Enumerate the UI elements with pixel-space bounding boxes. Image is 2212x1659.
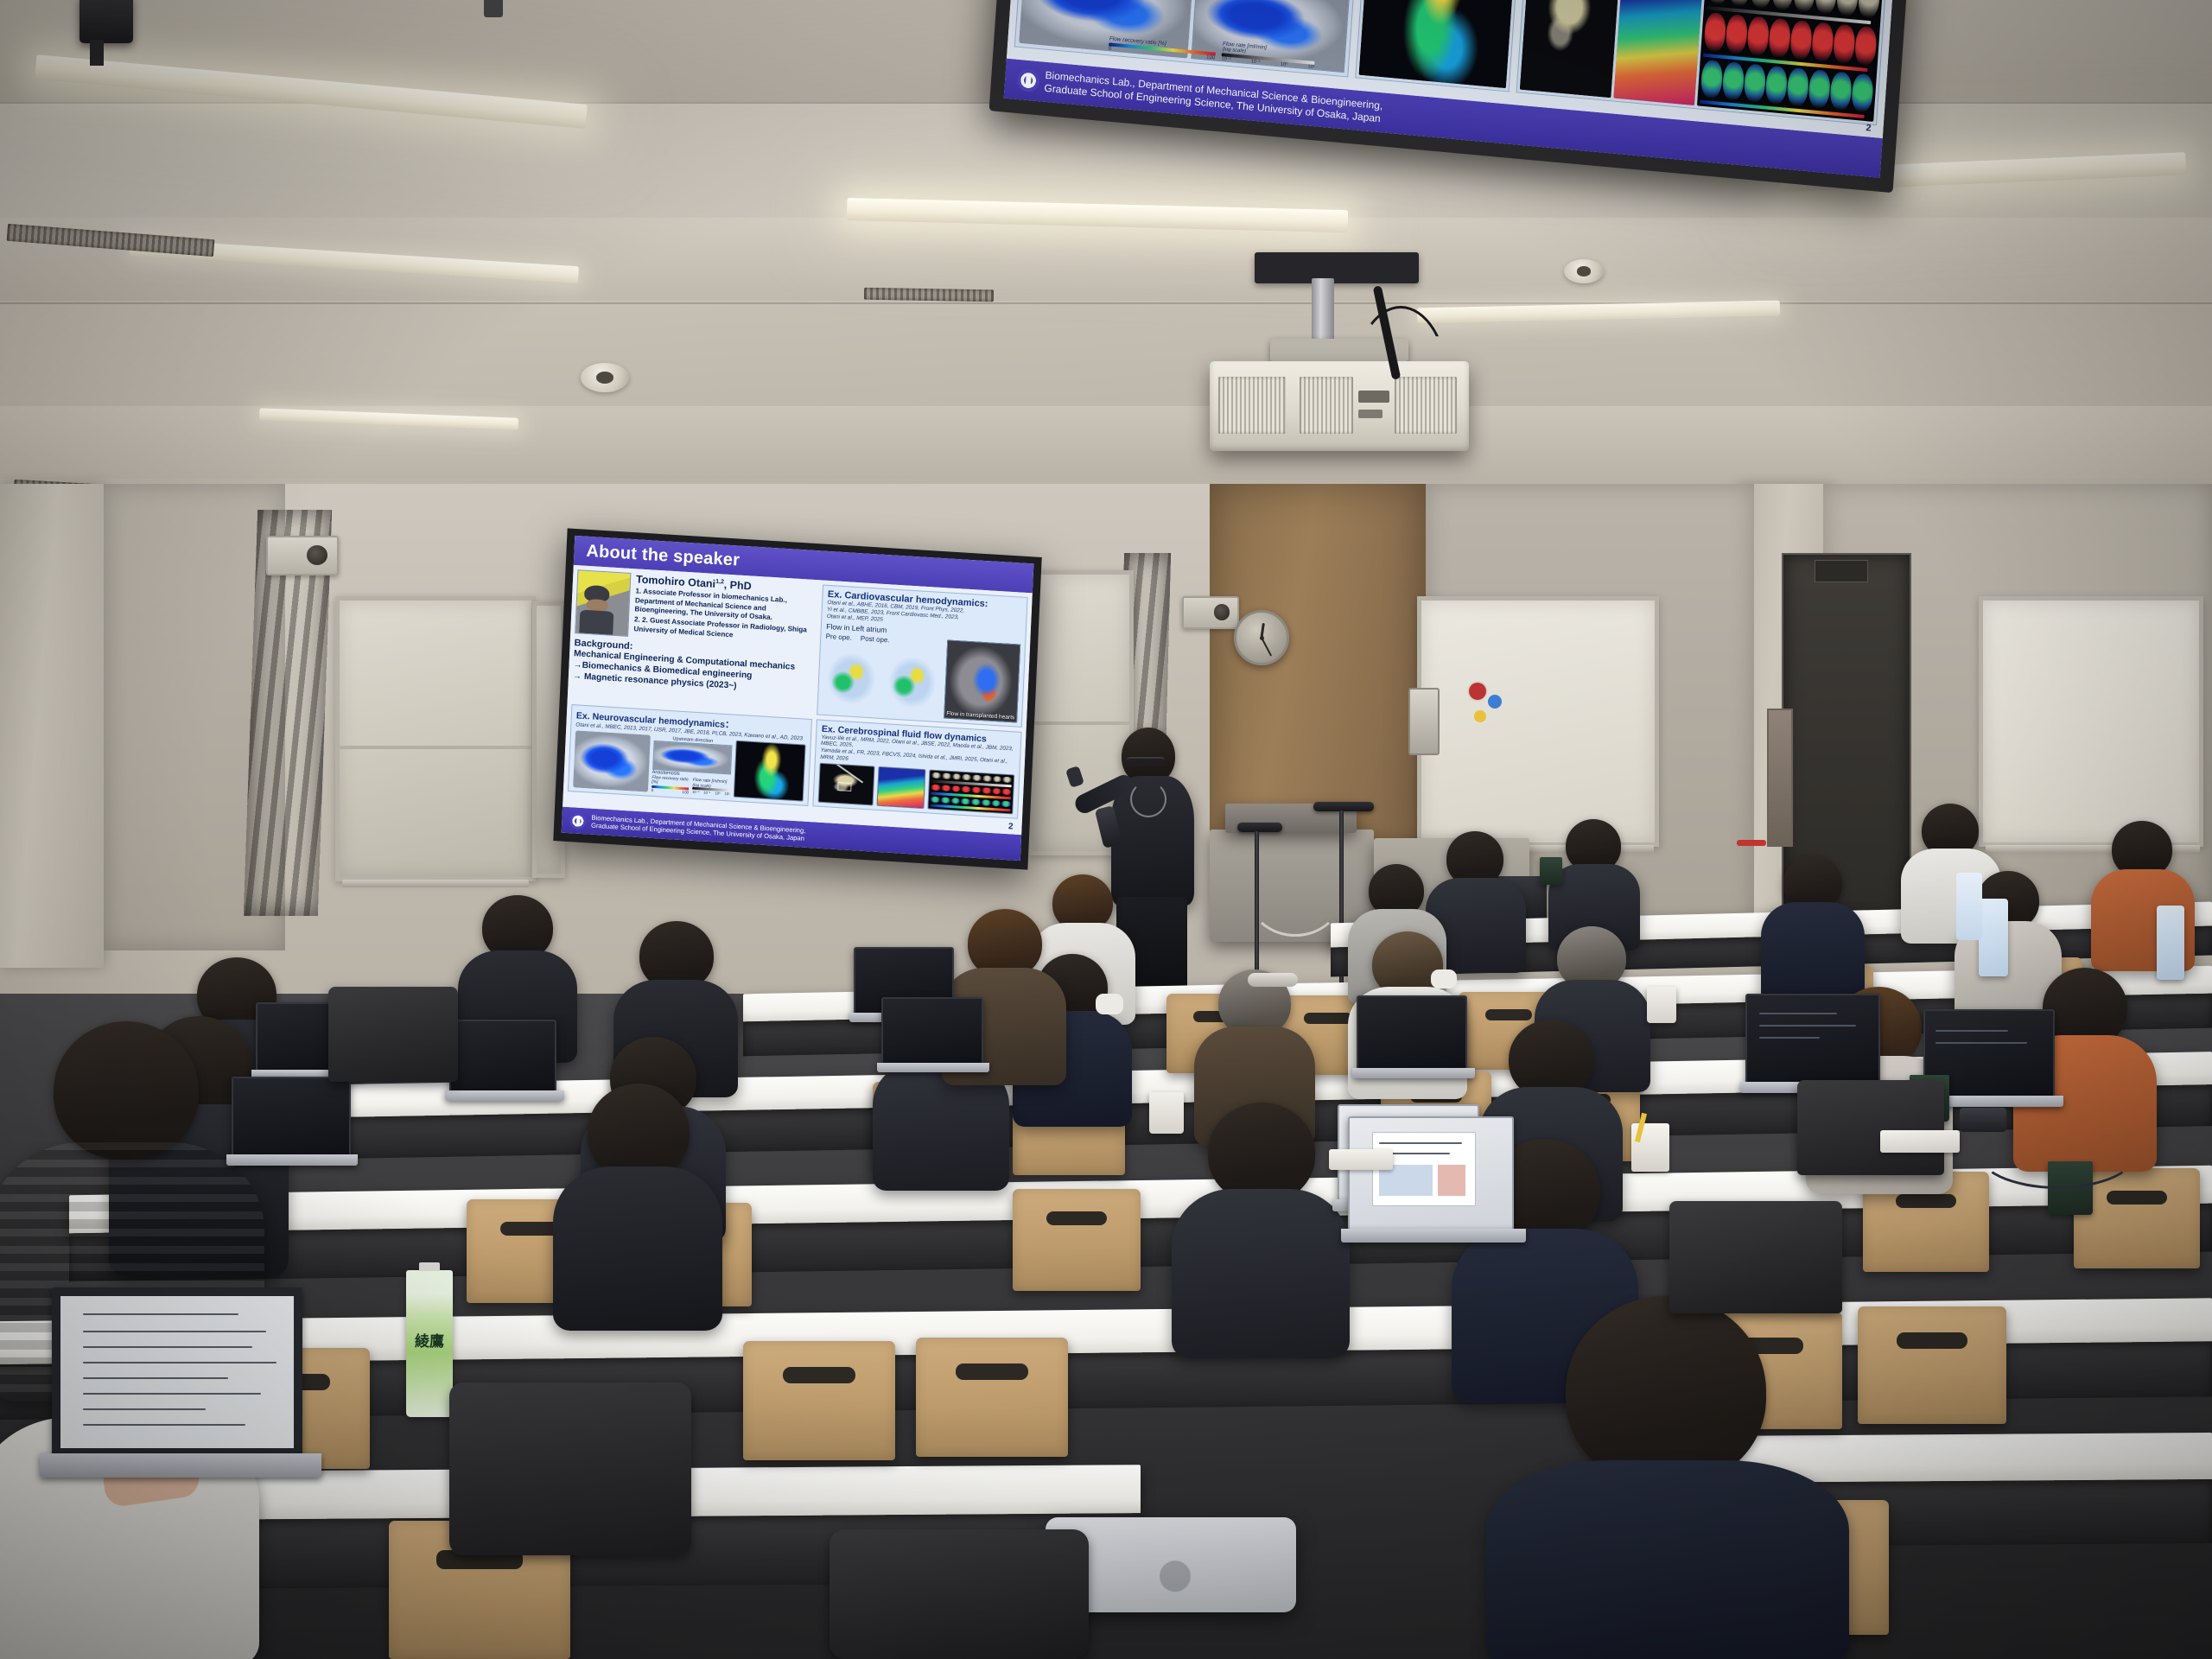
ceiling-fixture: [484, 0, 503, 17]
panel-neurovascular: Ex. Neurovascular hemodynamics： Otani et…: [568, 704, 812, 806]
laptop-base: [1352, 1068, 1475, 1078]
charging-cable: [1975, 1111, 2139, 1189]
projector-port: [1358, 391, 1389, 403]
whiteboard-right: [1417, 596, 1659, 847]
ceiling-speaker: [581, 363, 629, 392]
ceiling-speaker: [1564, 259, 1604, 283]
speaker-bio-block: Tomohiro Otani1,2, PhD 1. Associate Prof…: [572, 569, 819, 715]
coffee-cup: [1540, 857, 1562, 885]
whiteboard-far-right: [1979, 596, 2203, 847]
panel-cerebrospinal: Ex. Cerebrospinal fluid flow dynamics Ya…: [813, 719, 1022, 819]
desk-microphone: [1248, 973, 1298, 987]
backpack: [1797, 1080, 1944, 1175]
figure-brain-inset: [652, 741, 732, 774]
figure-sagittal-mri: [818, 763, 875, 805]
apple-logo-icon: [1156, 1549, 1194, 1594]
drink-bottle: 綾鷹: [406, 1270, 453, 1417]
wall-ornament: [1469, 683, 1486, 700]
wall-pillar-left: [0, 484, 104, 968]
laptop-screen[interactable]: [1357, 995, 1467, 1070]
figure-brain-perfusion: [573, 731, 650, 792]
presenter-lanyard: [1130, 781, 1166, 817]
chair[interactable]: [1013, 1189, 1141, 1291]
colorbar-max: 100: [1206, 55, 1215, 61]
attendee-foreground-right: [1512, 1296, 1858, 1659]
bottle-cap: [419, 1262, 440, 1271]
chair[interactable]: [1858, 1306, 2006, 1424]
ceiling-vent: [864, 288, 994, 302]
laptop-screen[interactable]: [449, 1020, 556, 1092]
figure-atrium-pre-op: [823, 640, 883, 714]
mic-head: [1237, 823, 1282, 832]
paper-cup: [1149, 1092, 1184, 1134]
laptop-screen[interactable]: [881, 997, 983, 1065]
red-marker: [1737, 840, 1766, 846]
attendee-body: [1486, 1460, 1849, 1659]
figure-atrium-post-op: [883, 645, 944, 718]
colorbar-min: 0: [1109, 46, 1112, 51]
wall-equipment-box: [1767, 709, 1793, 847]
projector-port: [1358, 410, 1382, 418]
main-slide: About the speaker Tomohiro Otani1: [562, 536, 1034, 861]
speaker-photo: [575, 569, 631, 637]
attendee-head: [1208, 1103, 1315, 1203]
power-strip[interactable]: [1329, 1149, 1393, 1170]
chair[interactable]: [916, 1338, 1068, 1457]
ceiling-camera-mount: [90, 40, 104, 66]
jacket-on-chair: [1669, 1201, 1842, 1313]
university-logo-icon: [569, 812, 587, 829]
wall-clock[interactable]: [1234, 610, 1289, 665]
power-strip[interactable]: [1880, 1130, 1960, 1153]
chair[interactable]: [743, 1341, 895, 1460]
lecture-hall-photo: Anastomosis Flow recovery ratio [%] 0 10…: [0, 0, 2212, 1659]
colorbar-max: 100: [682, 790, 689, 794]
laptop-base: [1341, 1229, 1526, 1243]
colorbar-tick: 10⁻¹: [703, 791, 710, 795]
water-bottle: [2157, 906, 2184, 980]
wall-phone[interactable]: [1408, 688, 1440, 755]
projector-mount-plate: [1255, 252, 1419, 283]
backpack: [328, 987, 458, 1082]
face-mask: [1431, 969, 1457, 988]
colorbar-tick: 10¹: [724, 792, 729, 797]
ceiling-seam-2: [0, 302, 2212, 304]
wall-ornament: [1488, 695, 1502, 709]
attendee-head: [1566, 1296, 1766, 1486]
laptop-foreground[interactable]: [1348, 1116, 1529, 1263]
colorbar-tick: 10⁰: [1281, 61, 1288, 67]
mic-cable: [1248, 854, 1343, 937]
laptop[interactable]: [881, 997, 992, 1084]
projection-screen: About the speaker Tomohiro Otani1: [553, 528, 1041, 869]
laptop-screen[interactable]: [1745, 994, 1880, 1084]
colorbar-min: 0: [652, 788, 654, 792]
water-bottle: [1956, 873, 1982, 940]
wall-speaker-right: [1182, 596, 1239, 629]
laptop[interactable]: [449, 1020, 567, 1115]
university-logo-icon: [1016, 68, 1040, 92]
clock-center: [1260, 636, 1264, 640]
ceiling-camera: [79, 0, 133, 43]
laptop[interactable]: [232, 1077, 361, 1180]
bag-foreground: [829, 1529, 1089, 1659]
laptop-foreground-left[interactable]: [52, 1287, 328, 1503]
mic-head: [1313, 802, 1374, 811]
speaker-degree: , PhD: [723, 579, 752, 593]
colorbar-tick: 10⁻²: [1222, 56, 1231, 62]
bottle-label-text: 綾鷹: [410, 1329, 448, 1379]
figure-csf-velocity: [877, 766, 926, 809]
projector-vent: [1395, 377, 1457, 434]
laptop-screen[interactable]: [1348, 1116, 1514, 1230]
laptop-screen[interactable]: [52, 1287, 302, 1457]
laptop[interactable]: [1357, 995, 1478, 1090]
figure-vessel-streamlines: [733, 741, 806, 802]
attendee: [1172, 1103, 1351, 1353]
whiteboard-tray: [342, 880, 529, 887]
whiteboard-left: [335, 596, 536, 881]
colorbar-tick: 10¹: [1307, 64, 1314, 70]
attendee: [1761, 855, 1866, 1002]
speaker-name-superscript: 1,2: [715, 579, 724, 586]
attendee: [553, 1084, 724, 1327]
water-bottle: [1979, 899, 2008, 976]
wall-ornament: [1474, 710, 1486, 722]
backpack-foreground: [449, 1382, 691, 1555]
wall-speaker-left: [266, 536, 339, 575]
colorbar-tick: 10⁻¹: [1251, 59, 1261, 65]
clock-minute-hand: [1261, 638, 1272, 657]
figure-mri-panel-grid: [928, 770, 1015, 815]
projector-vent: [1218, 377, 1286, 434]
attendee-body: [1172, 1189, 1350, 1358]
exit-sign: [1815, 560, 1868, 582]
slide-page-number: 2: [1008, 822, 1014, 831]
paper-cup: [1647, 987, 1676, 1023]
laptop-base: [877, 1063, 989, 1072]
colorbar-tick: 10⁻²: [692, 790, 699, 794]
colorbar-tick: 10⁰: [715, 791, 721, 796]
presenter-glasses: [1127, 757, 1165, 767]
attendee-head: [54, 1021, 199, 1160]
panel-cardiovascular: Ex. Cardiovascular hemodynamics: Otani e…: [817, 585, 1028, 728]
laptop-base: [226, 1154, 358, 1166]
laptop-screen[interactable]: [232, 1077, 351, 1156]
slide-page-number: 2: [1866, 123, 1872, 134]
slide-title: About the speaker: [586, 541, 741, 570]
laptop-base: [40, 1453, 321, 1478]
laptop-base: [445, 1090, 564, 1101]
projector-vent: [1300, 377, 1353, 434]
face-mask: [1096, 994, 1123, 1014]
attendee-body: [553, 1166, 722, 1331]
